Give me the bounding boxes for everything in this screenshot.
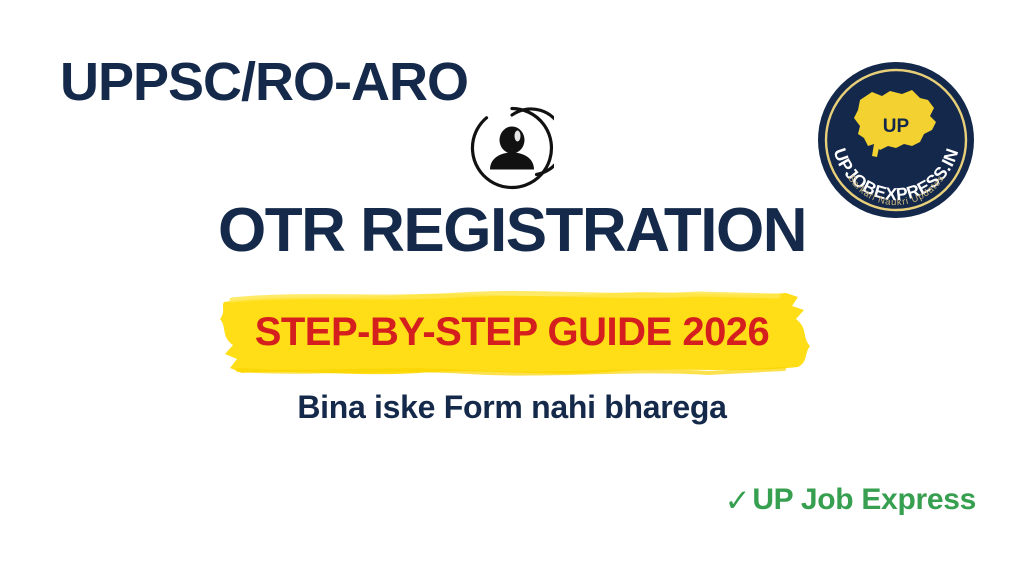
page-title: OTR REGISTRATION: [0, 198, 1024, 263]
thumbnail-canvas: UPPSC/RO-ARO UP: [0, 0, 1024, 576]
user-avatar-icon: [470, 106, 554, 190]
svg-text:UP: UP: [883, 116, 910, 137]
highlight-banner: STEP-BY-STEP GUIDE 2026: [0, 288, 1024, 376]
exam-name-kicker: UPPSC/RO-ARO: [60, 55, 468, 109]
guide-subtitle: STEP-BY-STEP GUIDE 2026: [0, 310, 1024, 354]
tagline: Bina iske Form nahi bharega: [0, 388, 1024, 426]
upjobexpress-logo: UP UPJOBEXPRESS.IN Sarkari Naukri Update…: [816, 60, 976, 220]
check-mark-icon: ✓: [725, 485, 751, 516]
brand-credit: ✓ UP Job Express: [725, 484, 976, 515]
brand-credit-label: UP Job Express: [752, 485, 976, 515]
